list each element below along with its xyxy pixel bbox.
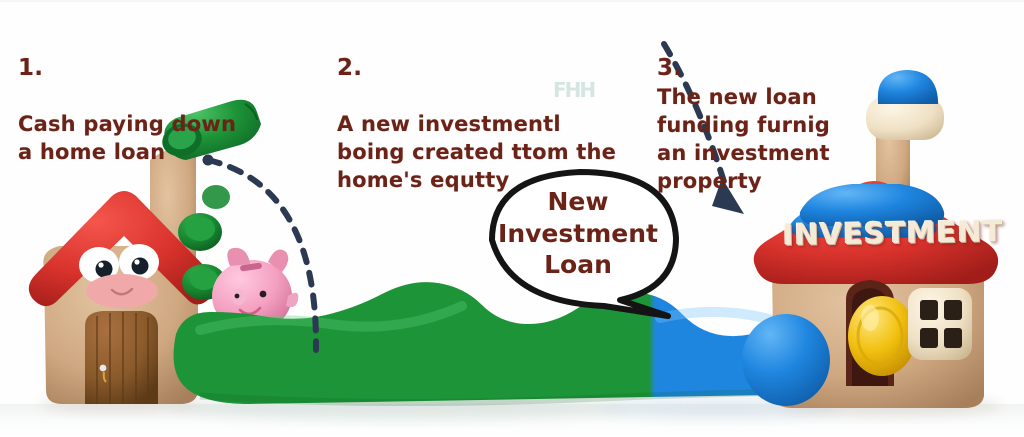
investment-sign-label: INVESTMENT [778,214,1009,252]
annotation-3-text: The new loan funding furnig an investmen… [657,85,830,193]
annotation-3: 3. The new loan funding furnig an invest… [657,32,887,196]
green-coins [178,185,230,300]
illustration-canvas: 1. Cash paying down a home loan 2. A new… [0,0,1024,437]
ground-shadow [0,404,1024,437]
annotation-2-text: A new investmentl boing created ttom the… [337,111,616,195]
annotation-1-number: 1. [18,53,236,84]
top-hairline [0,0,1024,2]
speech-bubble-text: New Investment Loan [487,186,669,281]
annotation-1: 1. Cash paying down a home loan [18,32,236,188]
annotation-3-number: 3. [657,53,682,84]
text-glyph-artifact: FHH [553,78,594,102]
money-tube [174,282,930,404]
annotation-1-text: Cash paying down a home loan [18,111,236,167]
piggy-bank [212,248,298,332]
